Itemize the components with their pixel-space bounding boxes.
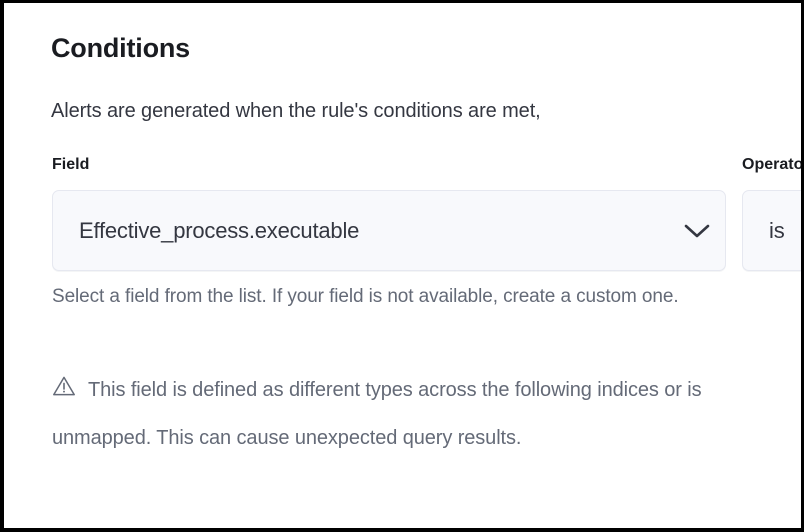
section-description: Alerts are generated when the rule's con…: [51, 100, 541, 123]
field-select[interactable]: Effective_process.executable: [52, 190, 726, 271]
field-helper-text: Select a field from the list. If your fi…: [52, 281, 692, 313]
field-warning-text: This field is defined as different types…: [52, 379, 702, 449]
panel-content: Conditions Alerts are generated when the…: [4, 3, 801, 528]
conditions-panel: Conditions Alerts are generated when the…: [4, 3, 801, 528]
field-warning: This field is defined as different types…: [52, 366, 712, 462]
operator-select[interactable]: is: [742, 190, 801, 271]
chevron-down-icon[interactable]: [669, 190, 725, 271]
operator-label: Operator: [742, 156, 801, 174]
page-title: Conditions: [51, 33, 190, 64]
screenshot-frame: Conditions Alerts are generated when the…: [0, 0, 804, 532]
operator-select-value: is: [743, 218, 801, 244]
condition-row: Field Operator Effective_process.executa…: [4, 153, 801, 283]
field-select-value: Effective_process.executable: [53, 218, 669, 244]
alert-triangle-icon: [52, 374, 76, 398]
field-label: Field: [52, 156, 89, 174]
